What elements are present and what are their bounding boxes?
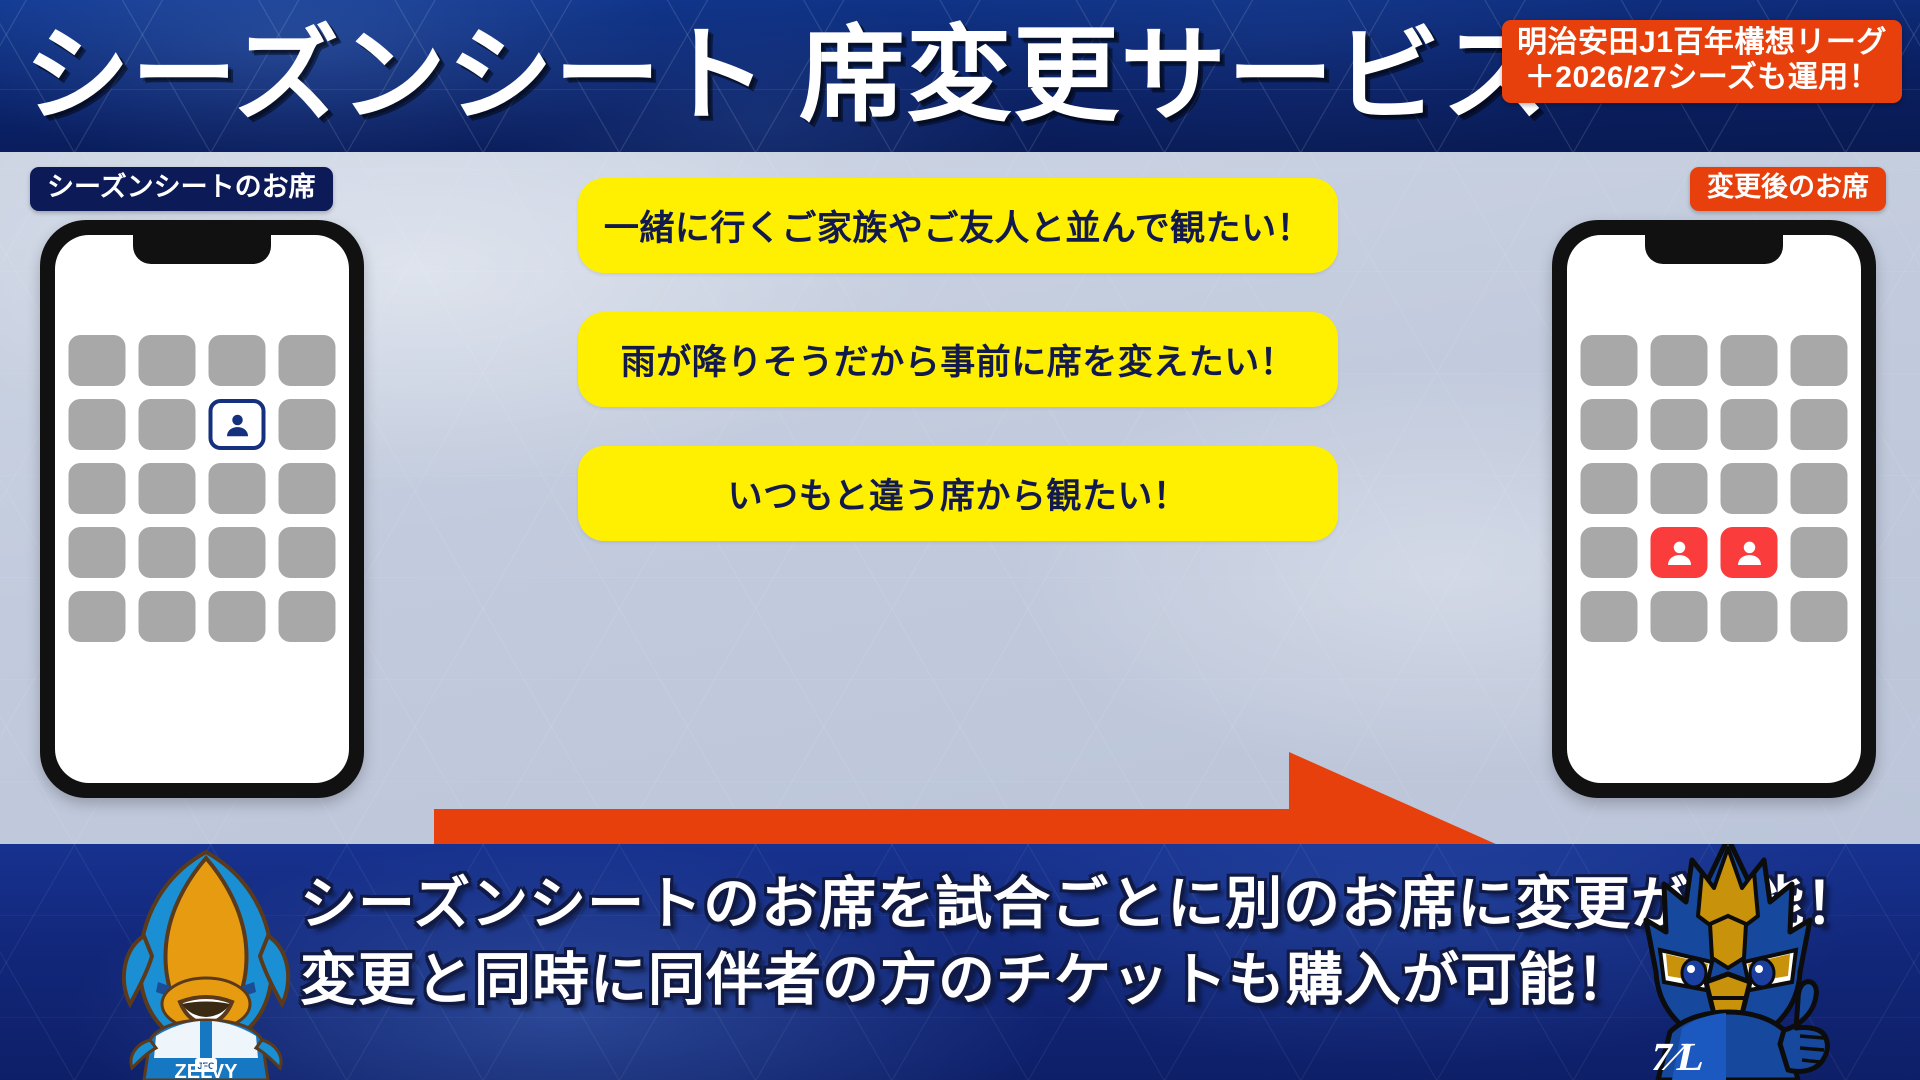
page-title: シーズンシート 席変更サービス (24, 8, 1472, 144)
league-badge-line1: 明治安田J1百年構想リーグ (1517, 25, 1887, 60)
seat[interactable] (1581, 527, 1638, 578)
seat[interactable] (1791, 591, 1848, 642)
seat[interactable] (139, 463, 196, 514)
message-banner: 一緒に行くご家族やご友人と並んで観たい！ (578, 178, 1338, 273)
phone-screen-after (1567, 235, 1861, 783)
page-header: シーズンシート 席変更サービス 明治安田J1百年構想リーグ ＋2026/27シー… (0, 0, 1920, 152)
seat-selected-after[interactable] (1651, 527, 1708, 578)
mascot-zelvy: JFC ZELVY (96, 844, 316, 1080)
seat[interactable] (279, 399, 336, 450)
seat[interactable] (279, 463, 336, 514)
message-banner-list: 一緒に行くご家族やご友人と並んで観たい！ 雨が降りそうだから事前に席を変えたい！… (578, 178, 1338, 580)
seat[interactable] (279, 335, 336, 386)
league-badge-line2: ＋2026/27シーズも運用！ (1525, 60, 1879, 95)
before-section-label: シーズンシートのお席 (30, 167, 333, 211)
footer-line-2: 変更と同時に同伴者の方のチケットも購入が可能！ (300, 942, 1620, 1018)
seat[interactable] (1581, 335, 1638, 386)
mascot-zelvy-name: ZELVY (175, 1061, 239, 1080)
seat[interactable] (139, 399, 196, 450)
message-banner: いつもと違う席から観たい！ (578, 446, 1338, 541)
seat[interactable] (1651, 591, 1708, 642)
seat[interactable] (1651, 399, 1708, 450)
seat[interactable] (1791, 399, 1848, 450)
seat[interactable] (139, 335, 196, 386)
seat[interactable] (1791, 463, 1848, 514)
seat[interactable] (1651, 463, 1708, 514)
seat[interactable] (1581, 399, 1638, 450)
page-footer: JFC ZELVY シーズンシートのお席を試合ごとに別のお席に変更が可能！ 変更… (0, 844, 1920, 1080)
seat-grid-before (69, 335, 336, 642)
after-section-label: 変更後のお席 (1690, 167, 1886, 211)
main-content: シーズンシートのお席 (0, 152, 1920, 844)
seat-selected-before[interactable] (209, 399, 266, 450)
phone-notch-icon (133, 235, 271, 264)
seat[interactable] (1721, 399, 1778, 450)
phone-screen-before (55, 235, 349, 783)
person-icon (1733, 537, 1765, 569)
seat[interactable] (1581, 463, 1638, 514)
footer-message: シーズンシートのお席を試合ごとに別のお席に変更が可能！ 変更と同時に同伴者の方の… (300, 866, 1620, 1019)
seat-selected-after[interactable] (1721, 527, 1778, 578)
seat[interactable] (209, 591, 266, 642)
seat-grid-after (1581, 335, 1848, 642)
seat[interactable] (69, 527, 126, 578)
phone-mockup-after (1552, 220, 1876, 798)
person-icon (222, 410, 252, 440)
person-icon (1663, 537, 1695, 569)
seat[interactable] (69, 591, 126, 642)
seat[interactable] (69, 399, 126, 450)
phone-mockup-before (40, 220, 364, 798)
seat[interactable] (209, 463, 266, 514)
mascot-verdy-bird: 7⁄L (1608, 844, 1848, 1080)
seat[interactable] (1721, 335, 1778, 386)
seat[interactable] (1581, 591, 1638, 642)
seat[interactable] (1721, 591, 1778, 642)
seat[interactable] (279, 591, 336, 642)
seat[interactable] (1791, 335, 1848, 386)
phone-notch-icon (1645, 235, 1783, 264)
seat[interactable] (1721, 463, 1778, 514)
footer-line-1: シーズンシートのお席を試合ごとに別のお席に変更が可能！ (300, 866, 1620, 942)
seat[interactable] (1791, 527, 1848, 578)
message-banner: 雨が降りそうだから事前に席を変えたい！ (578, 312, 1338, 407)
seat[interactable] (209, 335, 266, 386)
seat[interactable] (69, 335, 126, 386)
mascot-verdy-emblem: 7⁄L (1647, 1034, 1710, 1079)
transition-arrow-icon (434, 752, 1534, 844)
seat[interactable] (209, 527, 266, 578)
league-badge: 明治安田J1百年構想リーグ ＋2026/27シーズも運用！ (1502, 20, 1902, 103)
seat[interactable] (1651, 335, 1708, 386)
seat[interactable] (279, 527, 336, 578)
seat[interactable] (69, 463, 126, 514)
seat[interactable] (139, 527, 196, 578)
seat[interactable] (139, 591, 196, 642)
